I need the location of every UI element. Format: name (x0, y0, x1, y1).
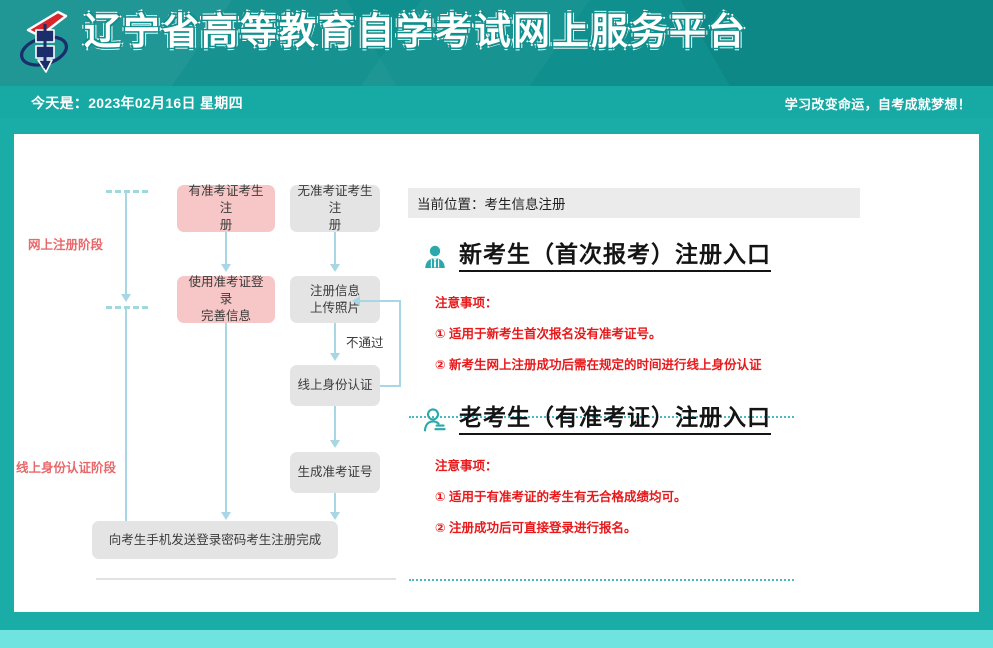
section-new-candidate-header[interactable]: 新考生（首次报考）注册入口 (408, 242, 968, 272)
stage-line-1 (125, 192, 127, 296)
stage-arrow-1 (121, 294, 131, 302)
flow-arrow-line-l2 (225, 323, 227, 514)
flow-box-login-complete-info: 使用准考证登录 完善信息 (177, 276, 275, 323)
section-divider-dotted (409, 579, 794, 581)
section-old-candidate-title[interactable]: 老考生（有准考证）注册入口 (459, 405, 771, 435)
date-bar: 今天是：2023年02月16日 星期四 学习改变命运，自考成就梦想！ (0, 86, 993, 118)
site-masthead: 辽宁省高等教育自学考试网上服务平台 (0, 0, 993, 86)
stage-divider-mid (106, 306, 148, 309)
today-date-text: 今天是：2023年02月16日 星期四 (31, 93, 243, 113)
flow-box-line: 册 (220, 218, 233, 232)
stage-line-2 (125, 309, 127, 525)
main-panel: 当前位置：考生信息注册 新考生（首次报考）注册入口 (408, 134, 968, 612)
flow-box-line: 有准考证考生注 (188, 184, 263, 215)
stage-divider-top (106, 190, 148, 193)
loop-arrow-head (352, 296, 360, 306)
flow-box-with-ticket-register: 有准考证考生注 册 (177, 185, 275, 232)
new-candidate-person-icon (422, 244, 448, 270)
flow-arrow-head-r1 (330, 264, 340, 272)
section-old-candidate-header[interactable]: 老考生（有准考证）注册入口 (408, 405, 968, 435)
section-new-candidate-notes: 注意事项： ① 适用于新考生首次报名没有准考证号。 ② 新考生网上注册成功后需在… (408, 272, 968, 381)
section-new-candidate: 新考生（首次报考）注册入口 注意事项： ① 适用于新考生首次报名没有准考证号。 … (408, 242, 968, 381)
flow-box-no-ticket-register: 无准考证考生注 册 (290, 185, 380, 232)
stage-label-online-registration: 网上注册阶段 (28, 234, 103, 253)
section-new-candidate-title[interactable]: 新考生（首次报考）注册入口 (459, 242, 771, 272)
content-card: 网上注册阶段 线上身份认证阶段 有准考证考生注 册 使用准考证登录 完善信息 (14, 134, 979, 612)
flow-box-registration-complete: 向考生手机发送登录密码考生注册完成 (92, 521, 338, 559)
breadcrumb: 当前位置：考生信息注册 (408, 188, 860, 218)
page-title: 辽宁省高等教育自学考试网上服务平台 (84, 13, 747, 50)
loop-line-right (380, 385, 401, 387)
flow-box-line: 无准考证考生注 (297, 184, 372, 215)
flow-arrow-line-r3 (334, 406, 336, 442)
notice-item: ① 适用于新考生首次报名没有准考证号。 (435, 319, 968, 350)
loop-line-vertical (399, 300, 401, 387)
flowchart-baseline (96, 578, 396, 580)
notice-item: ② 注册成功后可直接登录进行报名。 (435, 513, 968, 544)
page-root: 辽宁省高等教育自学考试网上服务平台 今天是：2023年02月16日 星期四 学习… (0, 0, 993, 648)
flow-box-generate-ticket-number: 生成准考证号 (290, 452, 380, 493)
registration-flowchart: 网上注册阶段 线上身份认证阶段 有准考证考生注 册 使用准考证登录 完善信息 (14, 134, 406, 612)
flow-arrow-head-r3 (330, 440, 340, 448)
flow-arrow-line-l1 (225, 232, 227, 266)
section-old-candidate-notes: 注意事项： ① 适用于有准考证的考生有无合格成绩均可。 ② 注册成功后可直接登录… (408, 435, 968, 544)
flow-box-line: 册 (329, 218, 342, 232)
flow-box-line: 完善信息 (201, 309, 251, 323)
flow-arrow-head-l1 (221, 264, 231, 272)
section-old-candidate: 老考生（有准考证）注册入口 注意事项： ① 适用于有准考证的考生有无合格成绩均可… (408, 405, 968, 544)
stage-label-identity-verification: 线上身份认证阶段 (16, 457, 116, 476)
flow-arrow-line-r2 (334, 323, 336, 355)
old-candidate-person-icon (422, 407, 448, 433)
notice-label: 注意事项： (435, 288, 968, 319)
loop-line-top (358, 300, 401, 302)
notice-item: ② 新考生网上注册成功后需在规定的时间进行线上身份认证 (435, 350, 968, 381)
lnzk-logo-icon (14, 6, 78, 78)
flow-box-online-identity-verification: 线上身份认证 (290, 365, 380, 406)
flow-arrow-line-r1 (334, 232, 336, 266)
flow-arrow-head-r2 (330, 353, 340, 361)
flow-arrow-line-r4 (334, 493, 336, 514)
loop-label-fail: 不通过 (346, 332, 384, 351)
notice-item: ① 适用于有准考证的考生有无合格成绩均可。 (435, 482, 968, 513)
notice-label: 注意事项： (435, 451, 968, 482)
flow-box-line: 使用准考证登录 (188, 275, 263, 306)
slogan-text: 学习改变命运，自考成就梦想！ (785, 94, 971, 113)
flow-arrow-head-l2 (221, 512, 231, 520)
flow-arrow-head-r4 (330, 512, 340, 520)
